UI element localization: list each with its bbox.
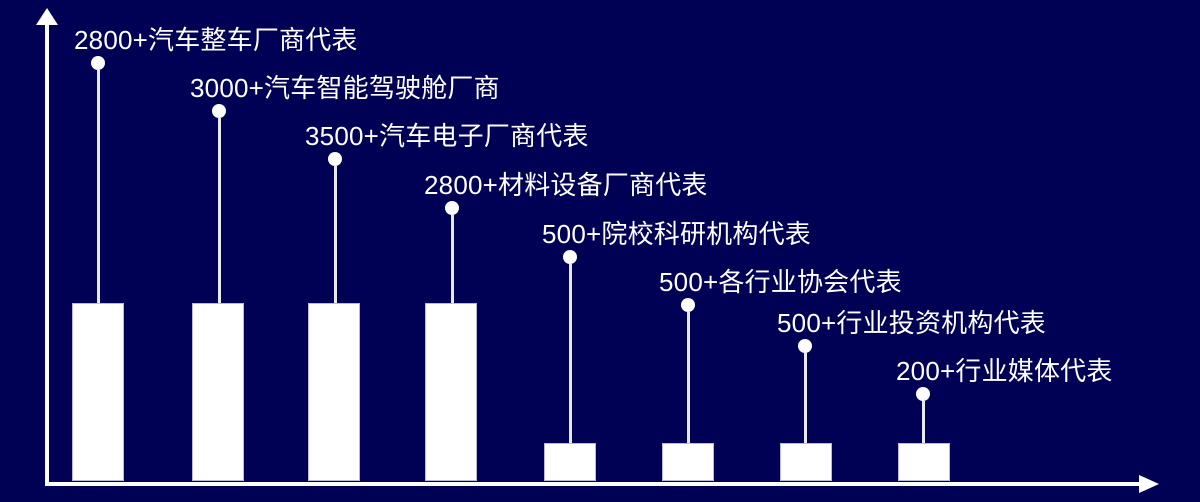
callout-label: 500+院校科研机构代表	[542, 219, 811, 249]
callout-label: 3500+汽车电子厂商代表	[305, 121, 589, 151]
leader-line	[804, 353, 807, 443]
leader-dot-icon	[91, 56, 105, 70]
callout-label: 2800+汽车整车厂商代表	[74, 25, 358, 55]
bar	[72, 303, 124, 481]
leader-dot-icon	[798, 339, 812, 353]
leader-line	[451, 215, 454, 303]
callout-label: 3000+汽车智能驾驶舱厂商	[190, 73, 500, 103]
leader-line	[569, 264, 572, 443]
leader-dot-icon	[916, 387, 930, 401]
callout-label: 500+各行业协会代表	[659, 267, 902, 297]
bar	[898, 443, 950, 481]
x-axis-arrow-icon	[1139, 475, 1159, 493]
bar	[780, 443, 832, 481]
bar	[192, 303, 244, 481]
callout-label: 2800+材料设备厂商代表	[424, 170, 708, 200]
callout-label: 500+行业投资机构代表	[777, 308, 1046, 338]
attendee-bar-chart: 2800+汽车整车厂商代表3000+汽车智能驾驶舱厂商3500+汽车电子厂商代表…	[0, 0, 1200, 502]
leader-line	[334, 166, 337, 303]
bar	[308, 303, 360, 481]
leader-dot-icon	[328, 152, 342, 166]
leader-dot-icon	[681, 298, 695, 312]
leader-dot-icon	[563, 250, 577, 264]
x-axis-line	[45, 482, 1141, 486]
leader-line	[687, 312, 690, 443]
leader-line	[922, 401, 925, 443]
leader-dot-icon	[212, 104, 226, 118]
leader-dot-icon	[445, 201, 459, 215]
bar	[425, 303, 477, 481]
y-axis-line	[45, 22, 49, 484]
bar	[544, 443, 596, 481]
leader-line	[218, 118, 221, 303]
y-axis-arrow-icon	[36, 8, 58, 25]
leader-line	[97, 70, 100, 303]
callout-label: 200+行业媒体代表	[896, 356, 1113, 386]
bar	[662, 443, 714, 481]
